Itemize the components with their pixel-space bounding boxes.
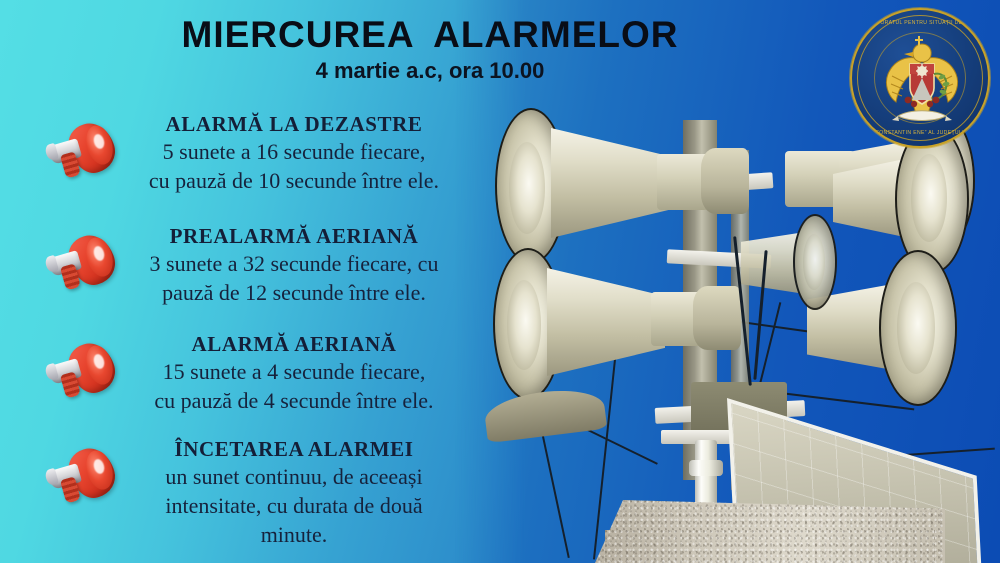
megaphone-icon bbox=[44, 445, 116, 505]
eagle-crest-icon bbox=[872, 30, 972, 130]
pipe-collar bbox=[689, 460, 723, 476]
emblem-arc-top: • INSPECTORATUL PENTRU SITUAȚII DE URGEN… bbox=[852, 20, 990, 26]
alarm-line: minute. bbox=[110, 520, 478, 549]
megaphone-icon bbox=[44, 120, 116, 180]
alarm-line: 5 sunete a 16 secunde fiecare, bbox=[110, 137, 478, 166]
alarm-line: cu pauză de 10 secunde între ele. bbox=[110, 166, 478, 195]
concrete-base-front bbox=[605, 530, 935, 563]
megaphone-icon bbox=[44, 232, 116, 292]
alarm-heading: ÎNCETAREA ALARMEI bbox=[110, 437, 478, 462]
isu-emblem: • INSPECTORATUL PENTRU SITUAȚII DE URGEN… bbox=[850, 8, 990, 148]
alarm-line: pauză de 12 secunde între ele. bbox=[110, 278, 478, 307]
alarm-heading: PREALARMĂ AERIANĂ bbox=[110, 224, 478, 249]
emblem-arc-bottom: MAIOR CONSTANTIN ENE” AL JUDEȚULUI BACĂU bbox=[852, 130, 990, 136]
alarm-line: cu pauză de 4 secunde între ele. bbox=[110, 386, 478, 415]
alarm-line: intensitate, cu durata de două bbox=[110, 491, 478, 520]
alarm-block: ALARMĂ AERIANĂ 15 sunete a 4 secunde fie… bbox=[58, 332, 478, 415]
page-title: MIERCUREA ALARMELOR bbox=[0, 14, 860, 56]
alarm-block: ÎNCETAREA ALARMEI un sunet continuu, de … bbox=[58, 437, 478, 549]
alarm-heading: ALARMĂ AERIANĂ bbox=[110, 332, 478, 357]
alarm-line: 15 sunete a 4 secunde fiecare, bbox=[110, 357, 478, 386]
alarm-block: PREALARMĂ AERIANĂ 3 sunete a 32 secunde … bbox=[58, 224, 478, 307]
alarm-line: un sunet continuu, de aceeași bbox=[110, 462, 478, 491]
alarm-line: 3 sunete a 32 secunde fiecare, cu bbox=[110, 249, 478, 278]
alarm-block: ALARMĂ LA DEZASTRE 5 sunete a 16 secunde… bbox=[58, 112, 478, 195]
page-subtitle: 4 martie a.c, ora 10.00 bbox=[0, 58, 860, 84]
alarm-poster: MIERCUREA ALARMELOR 4 martie a.c, ora 10… bbox=[0, 0, 1000, 563]
siren-horn bbox=[741, 206, 861, 316]
megaphone-icon bbox=[44, 340, 116, 400]
alarm-heading: ALARMĂ LA DEZASTRE bbox=[110, 112, 478, 137]
